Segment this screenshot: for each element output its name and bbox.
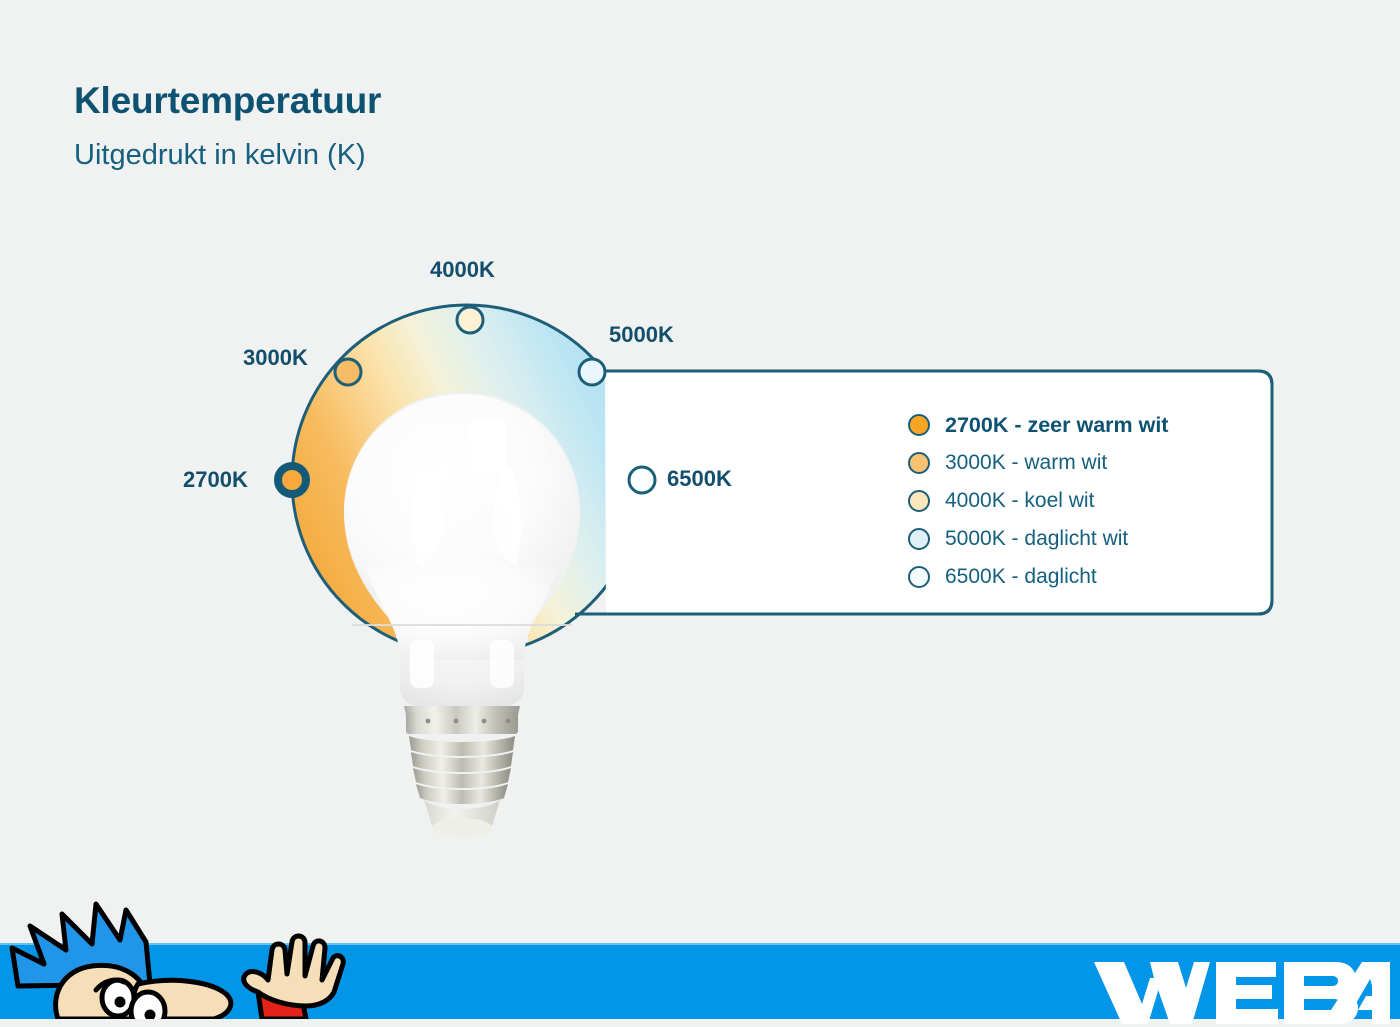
infographic-canvas: Kleurtemperatuur Uitgedrukt in kelvin (K…: [0, 0, 1400, 1019]
marker-2700k-selected[interactable]: [278, 466, 306, 494]
legend-item-label: 6500K - daglicht: [945, 565, 1097, 589]
legend-item-label: 4000K - koel wit: [945, 489, 1094, 513]
legend-item-label: 5000K - daglicht wit: [945, 527, 1128, 551]
marker-5000k[interactable]: [579, 359, 605, 385]
legend-swatch-icon: [908, 414, 930, 436]
marker-4000k[interactable]: [457, 307, 483, 333]
legend-item-3000k[interactable]: 3000K - warm wit: [908, 444, 1268, 482]
mascot-illustration: [0, 888, 360, 1019]
weba-logo: [1090, 952, 1390, 1027]
legend-item-4000k[interactable]: 4000K - koel wit: [908, 482, 1268, 520]
legend-swatch-icon: [908, 566, 930, 588]
legend-swatch-icon: [908, 528, 930, 550]
legend-item-6500k[interactable]: 6500K - daglicht: [908, 558, 1268, 596]
legend-swatch-icon: [908, 490, 930, 512]
marker-3000k[interactable]: [335, 359, 361, 385]
legend-item-label: 3000K - warm wit: [945, 451, 1107, 475]
legend-list: 2700K - zeer warm wit 3000K - warm wit 4…: [908, 406, 1268, 596]
ring-label-4000k: 4000K: [430, 257, 495, 283]
legend-item-5000k[interactable]: 5000K - daglicht wit: [908, 520, 1268, 558]
marker-6500k[interactable]: [629, 467, 655, 493]
legend-swatch-icon: [908, 452, 930, 474]
ring-label-5000k: 5000K: [609, 322, 674, 348]
legend-item-2700k[interactable]: 2700K - zeer warm wit: [908, 406, 1268, 444]
ring-label-2700k: 2700K: [183, 467, 248, 493]
legend-item-label: 2700K - zeer warm wit: [945, 413, 1168, 438]
ring-label-6500k: 6500K: [667, 466, 732, 492]
ring-label-3000k: 3000K: [243, 345, 308, 371]
